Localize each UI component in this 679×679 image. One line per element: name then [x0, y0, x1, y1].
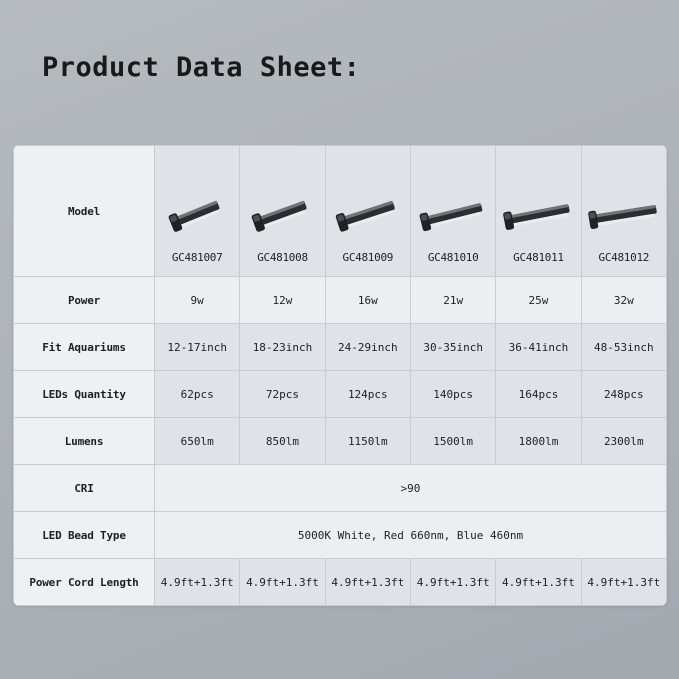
cell-lumens-2: 850lm	[240, 418, 325, 465]
cell-power-4: 21w	[410, 277, 495, 324]
cell-leds-3: 124pcs	[325, 371, 410, 418]
table-row-power-cord-length: Power Cord Length 4.9ft+1.3ft 4.9ft+1.3f…	[14, 559, 667, 606]
cell-led-bead-type-value: 5000K White, Red 660nm, Blue 460nm	[155, 512, 667, 559]
cell-fit-6: 48-53inch	[581, 324, 666, 371]
row-label-leds-quantity: LEDs Quantity	[14, 371, 155, 418]
cell-leds-2: 72pcs	[240, 371, 325, 418]
cell-model-6: GC481012	[581, 146, 666, 277]
table-row-led-bead-type: LED Bead Type 5000K White, Red 660nm, Bl…	[14, 512, 667, 559]
model-label: GC481008	[257, 251, 308, 264]
model-label: GC481007	[172, 251, 223, 264]
cell-cord-1: 4.9ft+1.3ft	[155, 559, 240, 606]
cell-cord-3: 4.9ft+1.3ft	[325, 559, 410, 606]
cell-cri-value: >90	[155, 465, 667, 512]
table-row-fit-aquariums: Fit Aquariums 12-17inch 18-23inch 24-29i…	[14, 324, 667, 371]
cell-lumens-3: 1150lm	[325, 418, 410, 465]
page-title: Product Data Sheet:	[42, 52, 360, 83]
cell-lumens-5: 1800lm	[496, 418, 581, 465]
product-data-sheet-page: Product Data Sheet: Model	[0, 0, 679, 679]
row-label-power: Power	[14, 277, 155, 324]
model-label: GC481009	[343, 251, 394, 264]
model-label: GC481011	[513, 251, 564, 264]
cell-cord-5: 4.9ft+1.3ft	[496, 559, 581, 606]
cell-model-4: GC481010	[410, 146, 495, 277]
aquarium-light-bar-icon	[502, 189, 574, 243]
cell-power-2: 12w	[240, 277, 325, 324]
row-label-led-bead-type: LED Bead Type	[14, 512, 155, 559]
cell-fit-1: 12-17inch	[155, 324, 240, 371]
cell-power-1: 9w	[155, 277, 240, 324]
cell-model-2: GC481008	[240, 146, 325, 277]
cell-lumens-4: 1500lm	[410, 418, 495, 465]
table-row-model: Model	[14, 146, 667, 277]
aquarium-light-bar-icon	[332, 189, 404, 243]
aquarium-light-bar-icon	[161, 189, 233, 243]
cell-leds-1: 62pcs	[155, 371, 240, 418]
cell-fit-4: 30-35inch	[410, 324, 495, 371]
row-label-lumens: Lumens	[14, 418, 155, 465]
cell-leds-5: 164pcs	[496, 371, 581, 418]
cell-model-5: GC481011	[496, 146, 581, 277]
cell-power-5: 25w	[496, 277, 581, 324]
cell-leds-6: 248pcs	[581, 371, 666, 418]
cell-model-1: GC481007	[155, 146, 240, 277]
cell-fit-5: 36-41inch	[496, 324, 581, 371]
row-label-model: Model	[14, 146, 155, 277]
cell-fit-2: 18-23inch	[240, 324, 325, 371]
model-label: GC481012	[599, 251, 650, 264]
aquarium-light-bar-icon	[246, 189, 318, 243]
row-label-power-cord-length: Power Cord Length	[14, 559, 155, 606]
row-label-cri: CRI	[14, 465, 155, 512]
cell-cord-2: 4.9ft+1.3ft	[240, 559, 325, 606]
cell-power-6: 32w	[581, 277, 666, 324]
cell-fit-3: 24-29inch	[325, 324, 410, 371]
aquarium-light-bar-icon	[588, 189, 660, 243]
cell-leds-4: 140pcs	[410, 371, 495, 418]
table-row-power: Power 9w 12w 16w 21w 25w 32w	[14, 277, 667, 324]
row-label-fit-aquariums: Fit Aquariums	[14, 324, 155, 371]
cell-lumens-6: 2300lm	[581, 418, 666, 465]
cell-model-3: GC481009	[325, 146, 410, 277]
spec-table: Model	[13, 145, 667, 606]
spec-table-container: Model	[13, 145, 667, 606]
table-row-lumens: Lumens 650lm 850lm 1150lm 1500lm 1800lm …	[14, 418, 667, 465]
model-label: GC481010	[428, 251, 479, 264]
aquarium-light-bar-icon	[417, 189, 489, 243]
cell-cord-4: 4.9ft+1.3ft	[410, 559, 495, 606]
cell-lumens-1: 650lm	[155, 418, 240, 465]
table-row-cri: CRI >90	[14, 465, 667, 512]
cell-power-3: 16w	[325, 277, 410, 324]
cell-cord-6: 4.9ft+1.3ft	[581, 559, 666, 606]
table-row-leds-quantity: LEDs Quantity 62pcs 72pcs 124pcs 140pcs …	[14, 371, 667, 418]
